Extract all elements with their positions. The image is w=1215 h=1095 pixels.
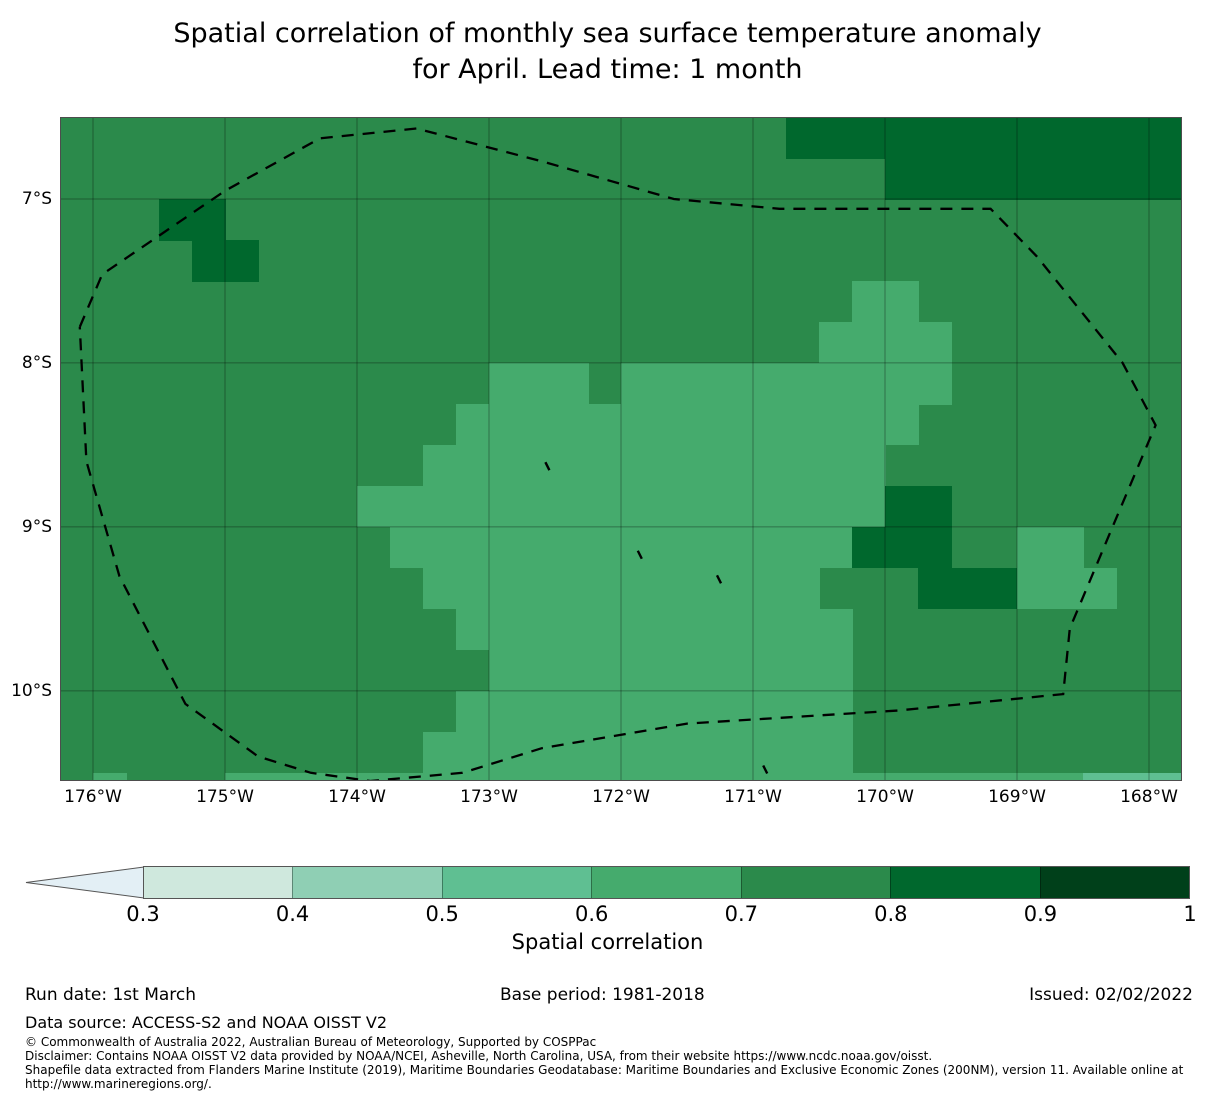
map-plot-area (60, 117, 1182, 781)
page-title: Spatial correlation of monthly sea surfa… (0, 16, 1215, 88)
colorbar-tick-label: 0.3 (126, 902, 159, 926)
island-mark (717, 575, 721, 583)
x-tick-label: 169°W (988, 787, 1046, 807)
x-tick-label: 172°W (592, 787, 650, 807)
base-period-text: Base period: 1981-2018 (500, 985, 705, 1005)
colorbar-tick-label: 0.8 (874, 902, 907, 926)
x-tick-label: 176°W (64, 787, 122, 807)
colorbar-segment (591, 867, 740, 898)
colorbar-segment (442, 867, 591, 898)
issued-date-text: Issued: 02/02/2022 (1029, 985, 1193, 1005)
colorbar-tick-label: 0.7 (725, 902, 758, 926)
colorbar-label: Spatial correlation (0, 930, 1215, 954)
shapefile-attribution-line1: Shapefile data extracted from Flanders M… (25, 1063, 1183, 1077)
island-mark (763, 766, 767, 774)
colorbar-tick-label: 0.5 (425, 902, 458, 926)
island-mark (545, 462, 549, 470)
colorbar-under-triangle (26, 867, 144, 898)
data-source-text: Data source: ACCESS-S2 and NOAA OISST V2 (25, 1013, 387, 1032)
disclaimer-text: Disclaimer: Contains NOAA OISST V2 data … (25, 1049, 932, 1063)
run-date-text: Run date: 1st March (25, 985, 196, 1005)
y-tick-label: 10°S (11, 681, 52, 701)
island-coastline-marks (60, 117, 1182, 781)
colorbar-tick-label: 0.9 (1024, 902, 1057, 926)
colorbar-segment (741, 867, 890, 898)
colorbar-tick-label: 1 (1183, 902, 1196, 926)
y-tick-label: 9°S (22, 517, 52, 537)
colorbar-under-arrow (25, 866, 144, 899)
colorbar-segment (144, 867, 292, 898)
colorbar-segment (292, 867, 441, 898)
shapefile-attribution-line2: http://www.marineregions.org/. (25, 1077, 212, 1091)
y-tick-label: 7°S (22, 189, 52, 209)
colorbar-segment (890, 867, 1039, 898)
x-tick-label: 171°W (724, 787, 782, 807)
colorbar-gradient (143, 866, 1190, 899)
island-mark (638, 551, 642, 559)
colorbar-tick-label: 0.6 (575, 902, 608, 926)
x-tick-label: 170°W (856, 787, 914, 807)
x-tick-label: 175°W (196, 787, 254, 807)
copyright-text: © Commonwealth of Australia 2022, Austra… (25, 1035, 596, 1049)
colorbar-segment (1040, 867, 1189, 898)
x-tick-label: 173°W (460, 787, 518, 807)
x-tick-label: 174°W (328, 787, 386, 807)
y-tick-label: 8°S (22, 353, 52, 373)
colorbar: 0.30.40.50.60.70.80.91 (0, 866, 1215, 906)
colorbar-tick-label: 0.4 (276, 902, 309, 926)
x-tick-label: 168°W (1120, 787, 1178, 807)
